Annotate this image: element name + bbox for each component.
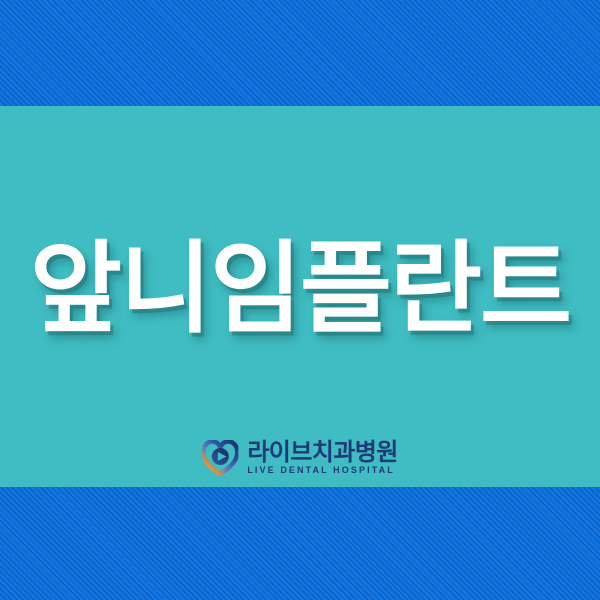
tooth-heart-play-icon <box>202 440 238 475</box>
brand-logo: 라이브치과병원 LIVE DENTAL HOSPITAL <box>202 440 397 475</box>
brand-name-en: LIVE DENTAL HOSPITAL <box>247 466 397 475</box>
brand-name-ko: 라이브치과병원 <box>247 440 397 464</box>
headline-text: 앞니임플란트 <box>30 237 570 341</box>
promo-banner: 앞니임플란트 <box>0 0 600 600</box>
brand-wordmark: 라이브치과병원 LIVE DENTAL HOSPITAL <box>247 440 397 475</box>
headline-area: 앞니임플란트 <box>0 0 600 600</box>
